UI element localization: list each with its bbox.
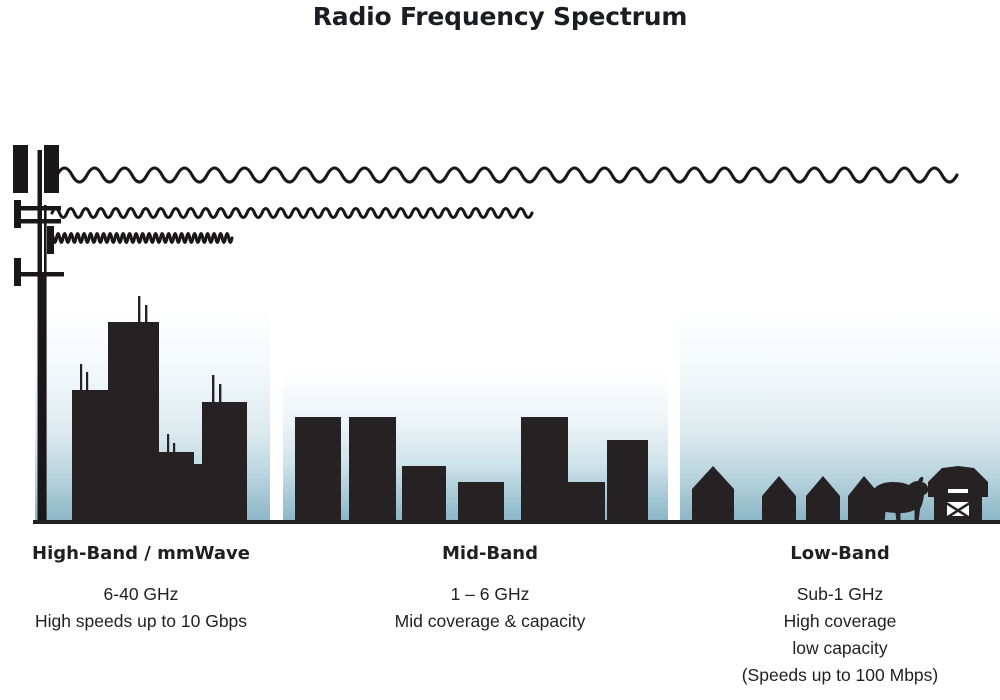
- band-lines-low: Sub-1 GHz High coverage low capacity (Sp…: [680, 581, 1000, 689]
- band-line: (Speeds up to 100 Mbps): [680, 662, 1000, 689]
- low-frequency-wave: [57, 168, 957, 182]
- band-caption-low: Low-Band Sub-1 GHz High coverage low cap…: [680, 543, 1000, 689]
- building-spire: [212, 375, 214, 405]
- building-spire: [80, 364, 82, 394]
- band-line: Mid coverage & capacity: [330, 608, 650, 635]
- building: [521, 417, 568, 520]
- band-line: High speeds up to 10 Gbps: [8, 608, 274, 635]
- band-line: High coverage: [680, 608, 1000, 635]
- infographic-root: Radio Frequency Spectrum: [0, 0, 1000, 700]
- barn-loft-window: [948, 489, 968, 493]
- band-lines-high: 6-40 GHz High speeds up to 10 Gbps: [8, 581, 274, 635]
- tower-crossbar-3: [16, 272, 64, 277]
- building: [108, 322, 159, 520]
- building: [202, 402, 247, 520]
- building: [402, 466, 446, 520]
- building-spire: [173, 443, 175, 467]
- tower-antenna-panel-1: [13, 145, 28, 193]
- tower-crossbar-1: [16, 206, 61, 211]
- building: [295, 417, 341, 520]
- wave-group: [50, 168, 957, 243]
- band-line: 6-40 GHz: [8, 581, 274, 608]
- barn-icon: [928, 466, 988, 520]
- tower-antenna-panel-3: [14, 200, 21, 228]
- tower-antenna-panel-2: [44, 145, 59, 193]
- band-caption-mid: Mid-Band 1 – 6 GHz Mid coverage & capaci…: [330, 543, 650, 635]
- tower-antenna-panel-5: [14, 258, 21, 286]
- band-lines-mid: 1 – 6 GHz Mid coverage & capacity: [330, 581, 650, 635]
- band-line: low capacity: [680, 635, 1000, 662]
- building-spire: [167, 434, 169, 466]
- band-captions: High-Band / mmWave 6-40 GHz High speeds …: [0, 543, 1000, 700]
- tower-crossbar-2: [16, 219, 61, 224]
- band-line: Sub-1 GHz: [680, 581, 1000, 608]
- tower-antenna-panel-4: [47, 226, 54, 254]
- building: [349, 417, 396, 520]
- building-spire: [138, 296, 140, 326]
- high-frequency-wave: [50, 234, 232, 243]
- building: [568, 482, 605, 520]
- tower-mast: [38, 150, 43, 522]
- tower-leg: [42, 276, 46, 522]
- mid-frequency-wave: [52, 209, 532, 218]
- building: [72, 390, 109, 520]
- band-title-low: Low-Band: [680, 543, 1000, 565]
- ground-line: [33, 520, 1000, 524]
- band-line: 1 – 6 GHz: [330, 581, 650, 608]
- building: [160, 464, 204, 520]
- band-caption-high: High-Band / mmWave 6-40 GHz High speeds …: [8, 543, 274, 635]
- building: [607, 440, 648, 520]
- band-title-high: High-Band / mmWave: [8, 543, 274, 565]
- building: [458, 482, 504, 520]
- band-title-mid: Mid-Band: [330, 543, 650, 565]
